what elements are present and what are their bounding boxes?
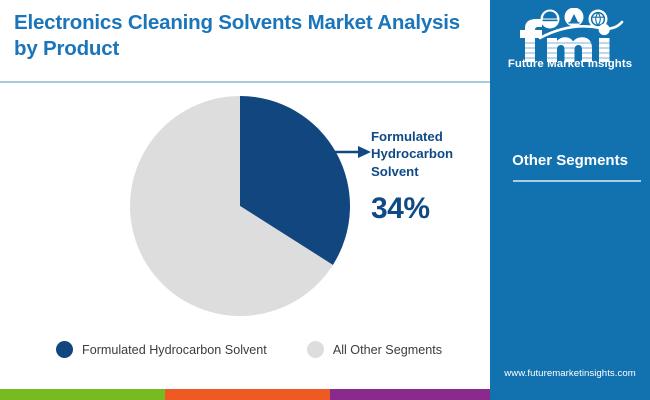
- fmi-logo-icon: [506, 8, 634, 64]
- bottom-bar-segment-orange: [165, 389, 330, 400]
- other-segments-divider: [513, 180, 641, 182]
- callout-arrow-icon: [329, 143, 371, 161]
- pie-chart: [130, 96, 350, 316]
- legend-swatch-icon: [56, 341, 73, 358]
- legend-item[interactable]: All Other Segments: [307, 341, 442, 358]
- legend-swatch-icon: [307, 341, 324, 358]
- infographic-root: Electronics Cleaning Solvents Market Ana…: [0, 0, 650, 400]
- page-title: Electronics Cleaning Solvents Market Ana…: [14, 10, 484, 62]
- callout-value: 34%: [371, 192, 430, 226]
- chart-legend: Formulated Hydrocarbon SolventAll Other …: [56, 341, 442, 358]
- header-divider: [0, 81, 490, 83]
- legend-item[interactable]: Formulated Hydrocarbon Solvent: [56, 341, 267, 358]
- pie-chart-svg: [130, 96, 350, 316]
- legend-label: Formulated Hydrocarbon Solvent: [82, 343, 267, 357]
- brand-tagline: Future Market Insights: [490, 58, 650, 70]
- bottom-bar-segment-blue: [490, 389, 650, 400]
- pie-slices: [130, 96, 350, 316]
- other-segments-heading: Other Segments: [490, 152, 650, 169]
- callout-label: Formulated Hydrocarbon Solvent: [371, 128, 483, 180]
- bottom-bar-segment-purple: [330, 389, 490, 400]
- brand-side-panel: Future Market Insights Other Segments Gl…: [490, 0, 650, 390]
- site-url: www.futuremarketinsights.com: [490, 368, 650, 379]
- bottom-bar-segment-green: [0, 389, 165, 400]
- bottom-color-bar: [0, 389, 650, 400]
- legend-label: All Other Segments: [333, 343, 442, 357]
